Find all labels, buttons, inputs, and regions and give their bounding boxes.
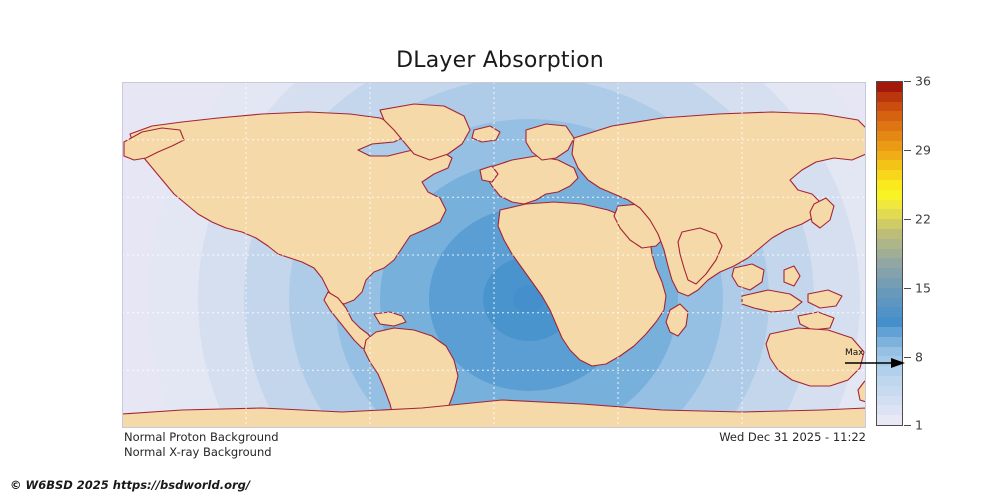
colorbar-gradient [877, 82, 902, 425]
copyright-notice: © W6BSD 2025 https://bsdworld.org/ [10, 478, 250, 492]
colorbar-label-8: 8 [915, 350, 923, 365]
page-title: DLayer Absorption [0, 48, 1000, 73]
xray-background-note: Normal X-ray Background [124, 445, 272, 459]
colorbar-tick-29 [904, 150, 911, 151]
max-marker: Max [845, 348, 907, 370]
max-arrow-icon [845, 357, 907, 370]
map-svg [122, 82, 866, 428]
colorbar-tick-36 [904, 81, 911, 82]
proton-background-note: Normal Proton Background [124, 430, 279, 444]
world-map[interactable] [122, 82, 866, 428]
colorbar-tick-22 [904, 219, 911, 220]
colorbar-tick-15 [904, 288, 911, 289]
colorbar-label-1: 1 [915, 418, 923, 433]
colorbar-axis-label: Affected Frequency (MHz) [929, 81, 1000, 426]
timestamp: Wed Dec 31 2025 - 11:22 [719, 430, 866, 444]
colorbar[interactable] [876, 81, 903, 426]
colorbar-tick-1 [904, 425, 911, 426]
figure-canvas: DLayer Absorption [0, 0, 1000, 500]
